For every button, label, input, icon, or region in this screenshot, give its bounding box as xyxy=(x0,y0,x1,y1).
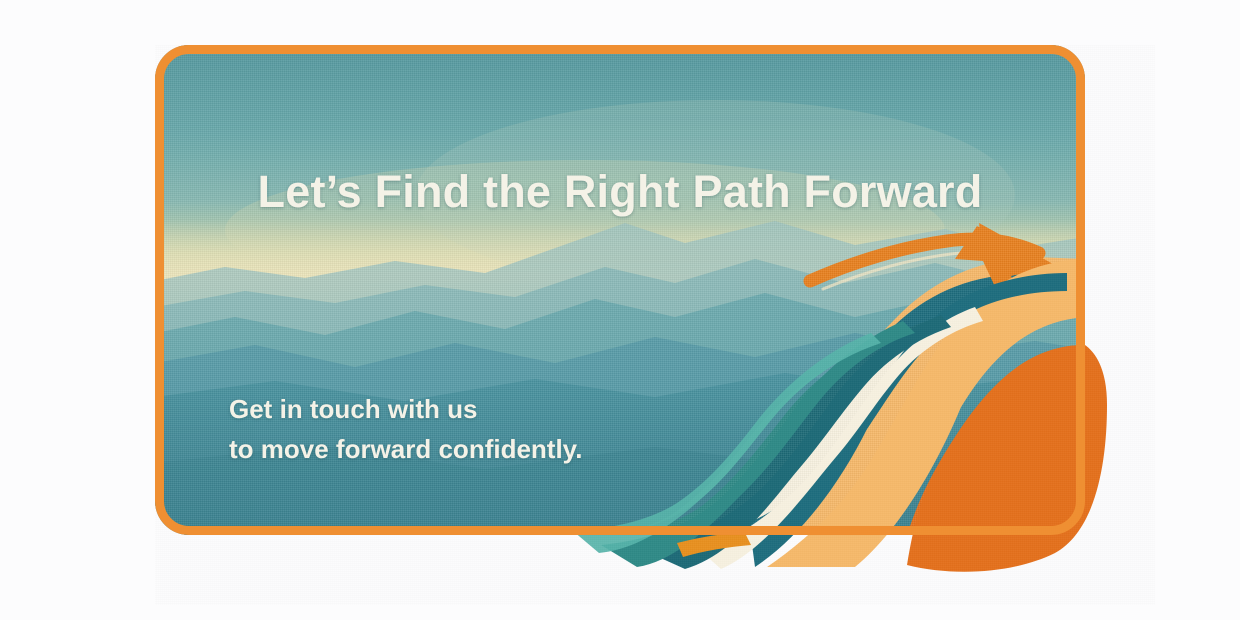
promo-card: Let’s Find the Right Path Forward Get in… xyxy=(155,45,1085,535)
subtitle-block: Get in touch with us to move forward con… xyxy=(229,390,582,469)
spill-orange-tip xyxy=(677,533,751,557)
subtitle-line-2: to move forward confidently. xyxy=(229,430,582,470)
subtitle-line-1: Get in touch with us xyxy=(229,390,582,430)
banner-stage: Let’s Find the Right Path Forward Get in… xyxy=(0,0,1240,620)
page-title: Let’s Find the Right Path Forward xyxy=(155,167,1085,217)
